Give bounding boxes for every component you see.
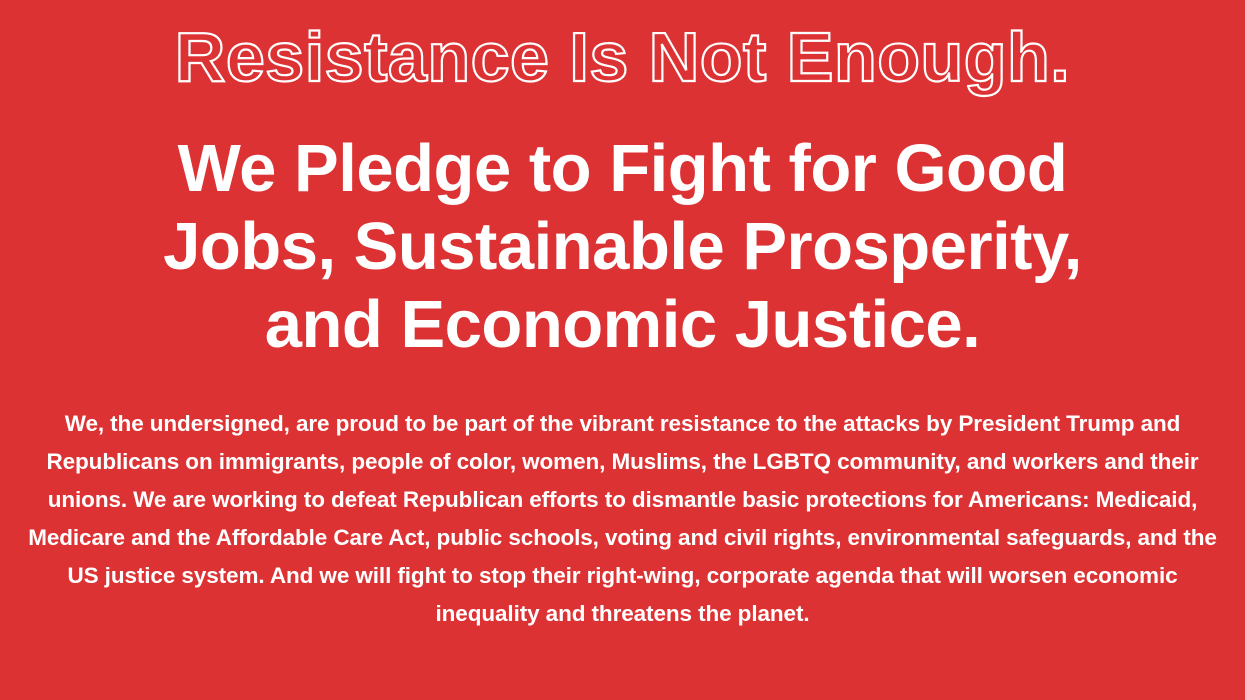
main-heading-line-3: and Economic Justice. [50,286,1195,364]
pledge-banner: Resistance Is Not Enough. We Pledge to F… [0,0,1245,700]
pledge-body-paragraph: We, the undersigned, are proud to be par… [22,405,1223,633]
main-heading-line-1: We Pledge to Fight for Good [50,130,1195,208]
main-heading-line-2: Jobs, Sustainable Prosperity, [50,208,1195,286]
main-heading: We Pledge to Fight for Good Jobs, Sustai… [50,130,1195,364]
eyebrow-headline: Resistance Is Not Enough. [0,17,1245,97]
